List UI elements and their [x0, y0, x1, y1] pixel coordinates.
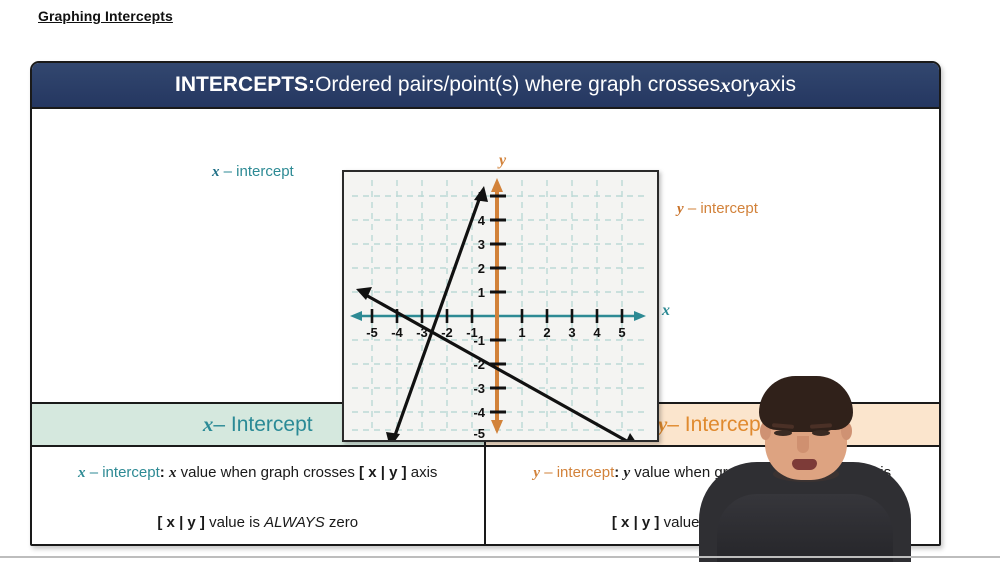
banner-var-x: x [720, 73, 731, 98]
x-rule-body-2: zero [325, 514, 358, 531]
svg-text:-4: -4 [391, 325, 403, 340]
x-axis-letter: x [662, 302, 670, 320]
y-def-body-2: axis [860, 464, 891, 481]
table-header-y-text: – Intercept [667, 413, 766, 437]
table-cell-y-definition: y – intercept: y value when graph crosse… [486, 447, 940, 498]
plot-svg: -5 -4 -3 -2 -1 1 2 3 4 5 5 4 3 [344, 172, 657, 440]
svg-text:1: 1 [478, 285, 485, 300]
x-def-colon: : [160, 464, 169, 481]
x-def-body-1: value when graph crosses [176, 464, 359, 481]
table-cell-x-definition: x – intercept: x value when graph crosse… [32, 447, 486, 498]
y-def-term-text: – intercept [540, 464, 614, 481]
y-axis [490, 178, 506, 434]
svg-text:-1: -1 [473, 333, 485, 348]
x-rule-bracket: [ x | y ] [157, 514, 205, 531]
bottom-divider [0, 556, 1000, 558]
svg-text:3: 3 [478, 237, 485, 252]
table-header-y-var: y [658, 412, 667, 437]
intercepts-card: INTERCEPTS: Ordered pairs/point(s) where… [30, 61, 941, 546]
svg-text:2: 2 [543, 325, 550, 340]
x-def-body-2: axis [407, 464, 438, 481]
table-cell-x-rule: [ x | y ] value is ALWAYS zero [32, 498, 486, 546]
y-intercept-annotation-text: – intercept [684, 200, 758, 217]
svg-text:-3: -3 [473, 381, 485, 396]
table-row: [ x | y ] value is ALWAYS zero [ x | y ]… [32, 498, 939, 546]
y-def-body-1: value when graph crosses [630, 464, 813, 481]
table-cell-y-rule: [ x | y ] value is ALWAYS zero [486, 498, 940, 546]
coordinate-plane: y x [342, 170, 659, 442]
x-rule-emph: ALWAYS [264, 514, 325, 531]
x-rule-body-1: value is [205, 514, 264, 531]
svg-text:5: 5 [618, 325, 625, 340]
x-def-term-text: – intercept [86, 464, 160, 481]
table-header-x-var: x [203, 412, 214, 437]
x-intercept-annotation: x – intercept [212, 163, 294, 181]
x-intercept-annotation-var: x [212, 164, 220, 180]
y-rule-emph: ALWAYS [719, 514, 780, 531]
banner-text-1: Ordered pairs/point(s) where graph cross… [315, 73, 720, 97]
banner-mid: or [731, 73, 750, 97]
svg-text:-5: -5 [366, 325, 378, 340]
y-rule-body-2: zero [779, 514, 812, 531]
y-intercept-annotation: y – intercept [677, 200, 758, 218]
svg-text:-4: -4 [473, 405, 485, 420]
svg-text:-5: -5 [473, 426, 485, 440]
banner-lead: INTERCEPTS: [175, 73, 315, 97]
y-rule-bracket: [ x | y ] [612, 514, 660, 531]
page-title: Graphing Intercepts [38, 8, 173, 24]
slide-page: Graphing Intercepts INTERCEPTS: Ordered … [0, 0, 1000, 562]
table-header-x-text: – Intercept [213, 413, 312, 437]
svg-text:1: 1 [518, 325, 525, 340]
svg-text:2: 2 [478, 261, 485, 276]
svg-text:4: 4 [593, 325, 601, 340]
y-def-bracket: [ x | y ] [813, 464, 861, 481]
y-intercept-annotation-var: y [677, 201, 684, 217]
svg-text:4: 4 [478, 213, 486, 228]
y-rule-body-1: value is [659, 514, 718, 531]
svg-text:3: 3 [568, 325, 575, 340]
x-intercept-annotation-text: – intercept [220, 163, 294, 180]
banner-text-2: axis [759, 73, 796, 97]
x-def-bracket: [ x | y ] [359, 464, 407, 481]
banner-var-y: y [749, 73, 758, 98]
y-axis-letter: y [499, 152, 506, 170]
x-def-term-var: x [78, 465, 86, 481]
table-row: x – intercept: x value when graph crosse… [32, 447, 939, 498]
plot-box: -5 -4 -3 -2 -1 1 2 3 4 5 5 4 3 [342, 170, 659, 442]
graph-region: x – intercept y – intercept y x [32, 109, 939, 404]
banner-header: INTERCEPTS: Ordered pairs/point(s) where… [32, 63, 939, 109]
